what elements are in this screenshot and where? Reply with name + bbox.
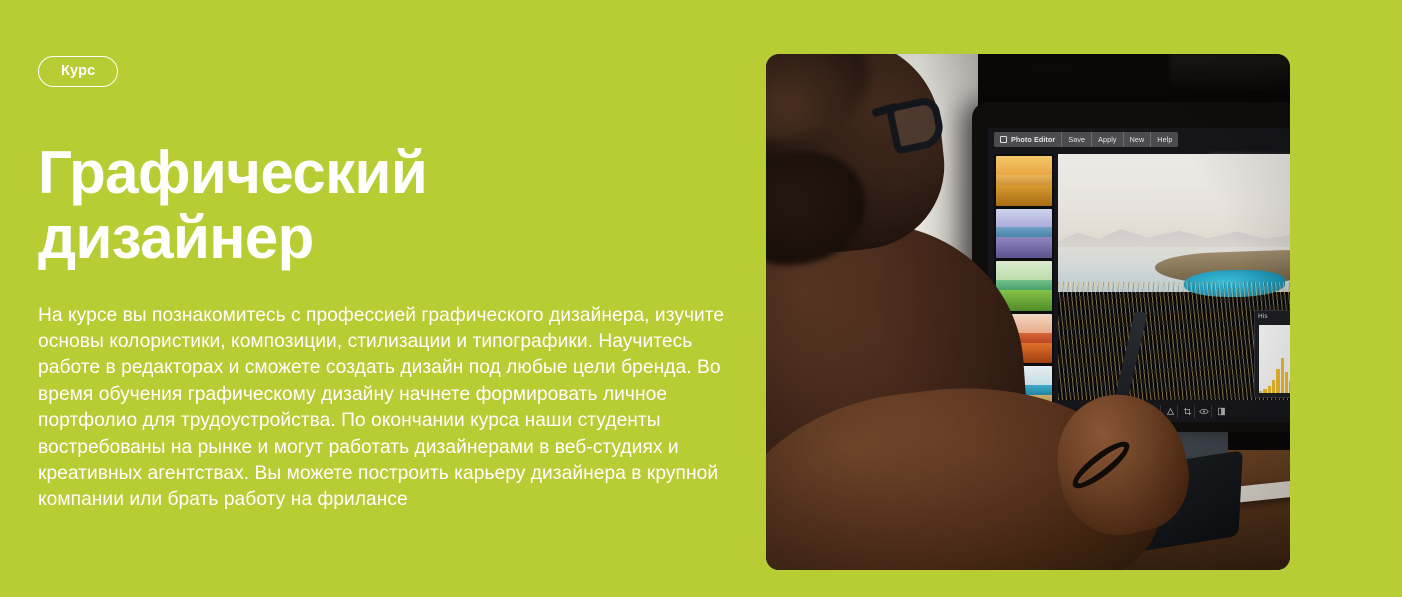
menubar-item-app: Photo Editor [994,132,1062,147]
menubar-item-new: New [1124,132,1152,147]
photo-editor-menubar: Photo Editor Save Apply New Help [994,132,1178,147]
hero-text-column: Курс Графический дизайнер На курсе вы по… [38,56,738,514]
menubar-new-label: New [1130,135,1145,144]
photo-person-hair [766,54,875,148]
page-title: Графический дизайнер [38,141,558,271]
crop-icon[interactable] [1180,405,1195,418]
course-type-badge-label: Курс [61,64,95,79]
menubar-help-label: Help [1157,135,1172,144]
split-view-icon[interactable] [1214,405,1229,418]
menubar-save-label: Save [1068,135,1085,144]
menubar-apply-label: Apply [1098,135,1116,144]
histogram-panel: His [1254,310,1290,398]
filter-thumbnail-warm-gold [996,156,1052,206]
photo-editor-window: Photo Editor Save Apply New Help [988,128,1290,422]
photo-person-glasses-icon [876,100,954,154]
course-hero-banner: Курс Графический дизайнер На курсе вы по… [0,0,1402,597]
menubar-app-label: Photo Editor [1011,135,1055,144]
histogram-plot [1259,325,1290,393]
course-description: На курсе вы познакомитесь с профессией г… [38,303,730,514]
hero-photo: Photo Editor Save Apply New Help [766,54,1290,570]
menubar-item-save: Save [1062,132,1092,147]
histogram-bars [1259,354,1290,393]
menubar-item-help: Help [1151,132,1178,147]
menubar-item-apply: Apply [1092,132,1123,147]
filter-thumbnail-cool-violet [996,209,1052,259]
photo-ceiling-shadow [1170,54,1290,88]
preview-eye-icon[interactable] [1197,405,1212,418]
histogram-panel-title: His [1255,311,1290,322]
course-type-badge[interactable]: Курс [38,56,118,87]
app-logo-icon [1000,136,1007,143]
